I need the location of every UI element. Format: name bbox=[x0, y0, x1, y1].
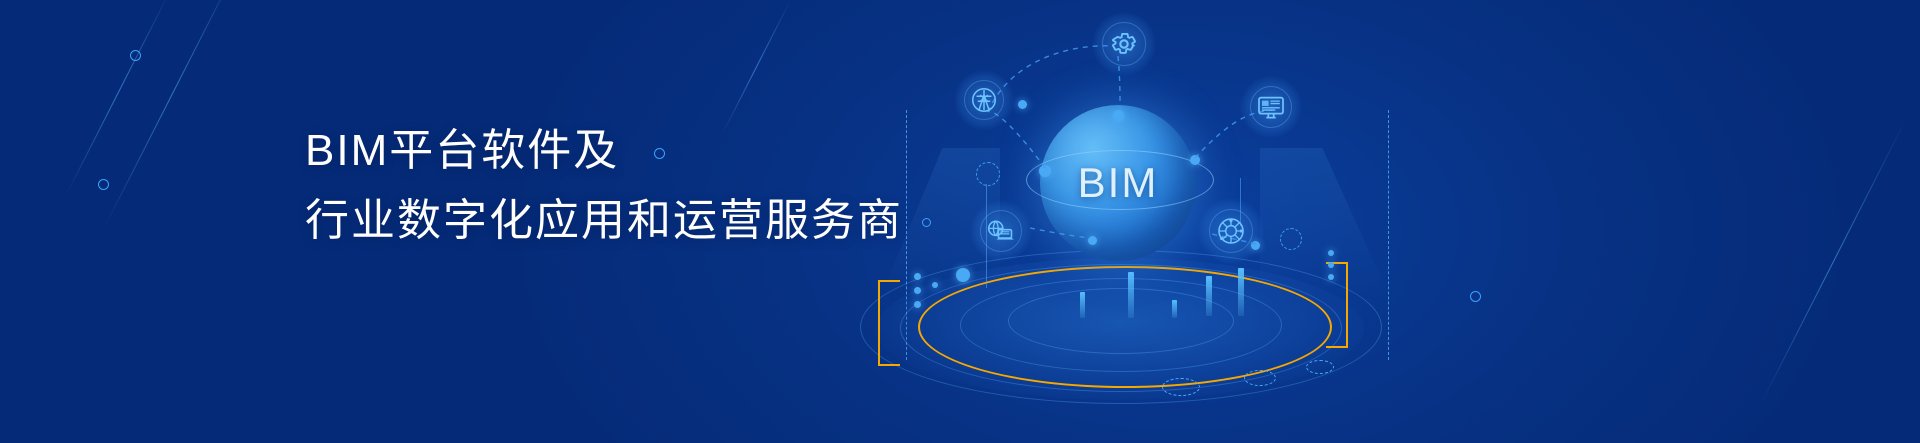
deco-line-4 bbox=[1760, 120, 1906, 406]
globe-laptop-icon-ring bbox=[980, 210, 1022, 252]
deco-line-2 bbox=[66, 0, 171, 195]
monitor-icon-ring bbox=[1250, 86, 1292, 128]
deco-line-3 bbox=[722, 0, 791, 134]
gear-icon-ring bbox=[1102, 22, 1146, 66]
gear-icon bbox=[1092, 12, 1156, 76]
deco-node-2 bbox=[98, 179, 109, 190]
deco-node-4 bbox=[1470, 291, 1481, 302]
headline-line-1: BIM平台软件及 bbox=[305, 116, 903, 186]
monitor-icon bbox=[1240, 76, 1302, 138]
deco-line-1 bbox=[104, 0, 241, 228]
bim-illustration: BIM bbox=[840, 0, 1460, 443]
hero-banner: BIM平台软件及 行业数字化应用和运营服务商 bbox=[0, 0, 1920, 443]
power-tower-icon bbox=[954, 70, 1014, 130]
page-title: BIM平台软件及 行业数字化应用和运营服务商 bbox=[305, 116, 903, 256]
deco-node-1 bbox=[130, 50, 141, 61]
connector-paths bbox=[840, 0, 1460, 443]
headline-line-2: 行业数字化应用和运营服务商 bbox=[305, 186, 903, 256]
globe-laptop-icon bbox=[970, 200, 1032, 262]
network-node-icon bbox=[1198, 198, 1264, 264]
